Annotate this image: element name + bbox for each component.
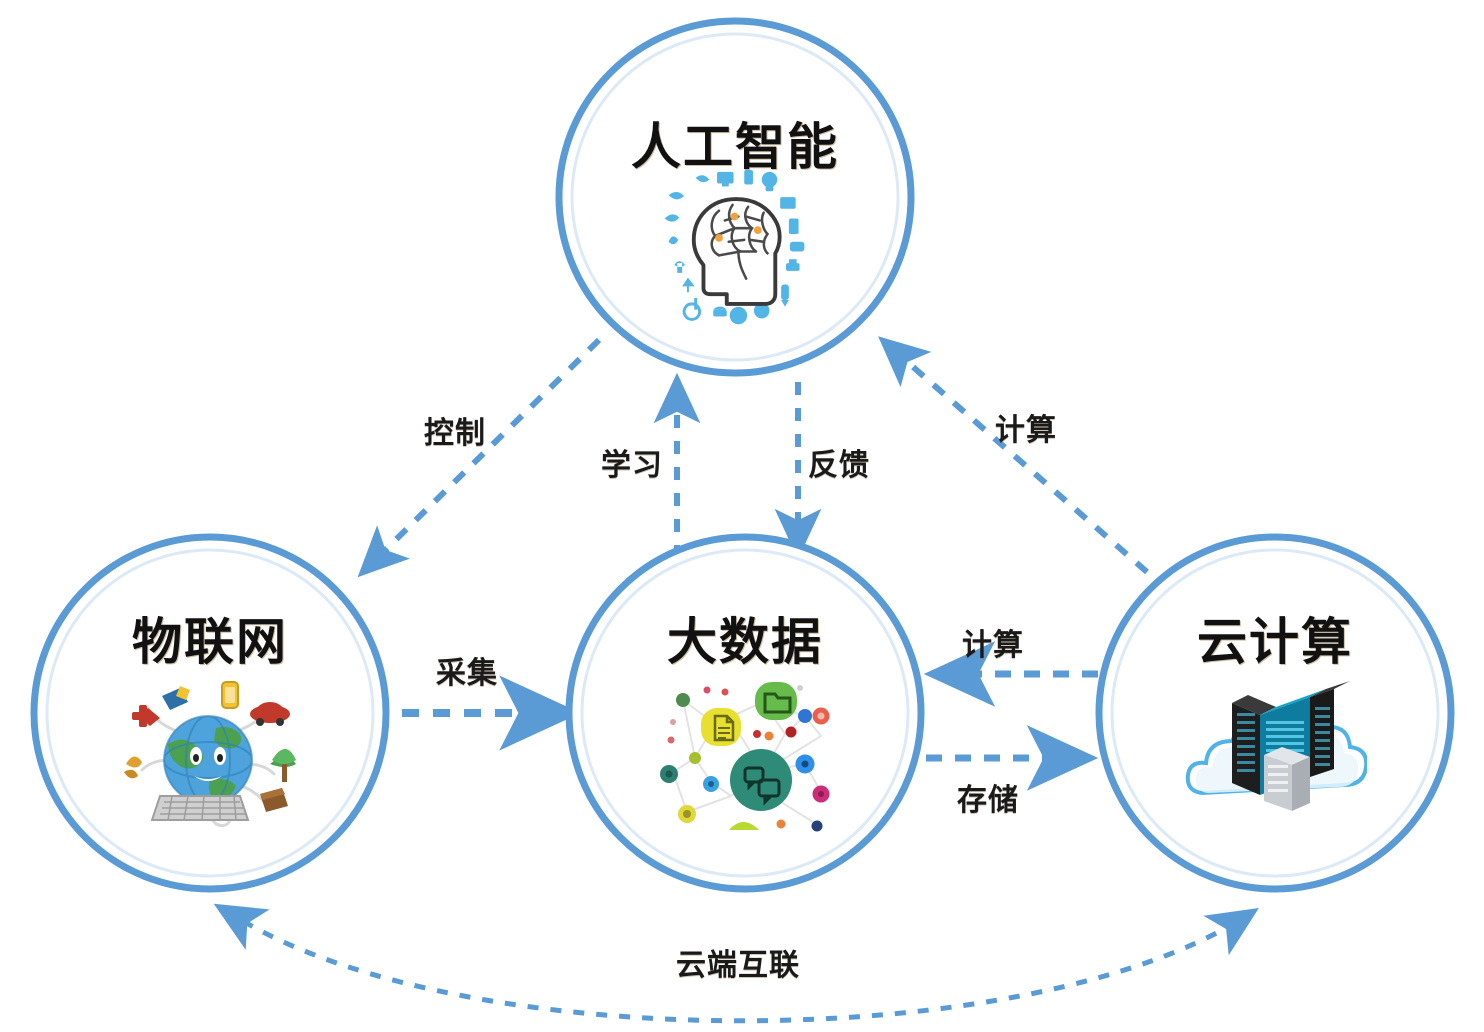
node-label-bigdata: 大数据	[667, 602, 823, 674]
edge-label-compute-ai: 计算	[995, 405, 1057, 449]
edge-label-cloud-interconnect: 云端互联	[676, 940, 800, 984]
brain-head-icon	[653, 168, 818, 333]
edge-label-storage: 存储	[957, 775, 1019, 819]
node-label-cloud: 云计算	[1197, 602, 1353, 674]
edge-label-compute-bigdata: 计算	[962, 620, 1024, 664]
edge-label-learning: 学习	[601, 440, 663, 484]
server-cloud-icon	[1182, 665, 1367, 840]
network-nodes-icon	[645, 672, 845, 842]
iot-globe-icon	[112, 668, 302, 833]
edge-label-control: 控制	[424, 408, 486, 452]
node-label-iot: 物联网	[132, 602, 288, 674]
diagram-canvas: 人工智能 物联网 大数据 云计算	[0, 0, 1484, 1032]
edge-label-collect: 采集	[436, 648, 498, 692]
edge-label-feedback: 反馈	[808, 440, 870, 484]
